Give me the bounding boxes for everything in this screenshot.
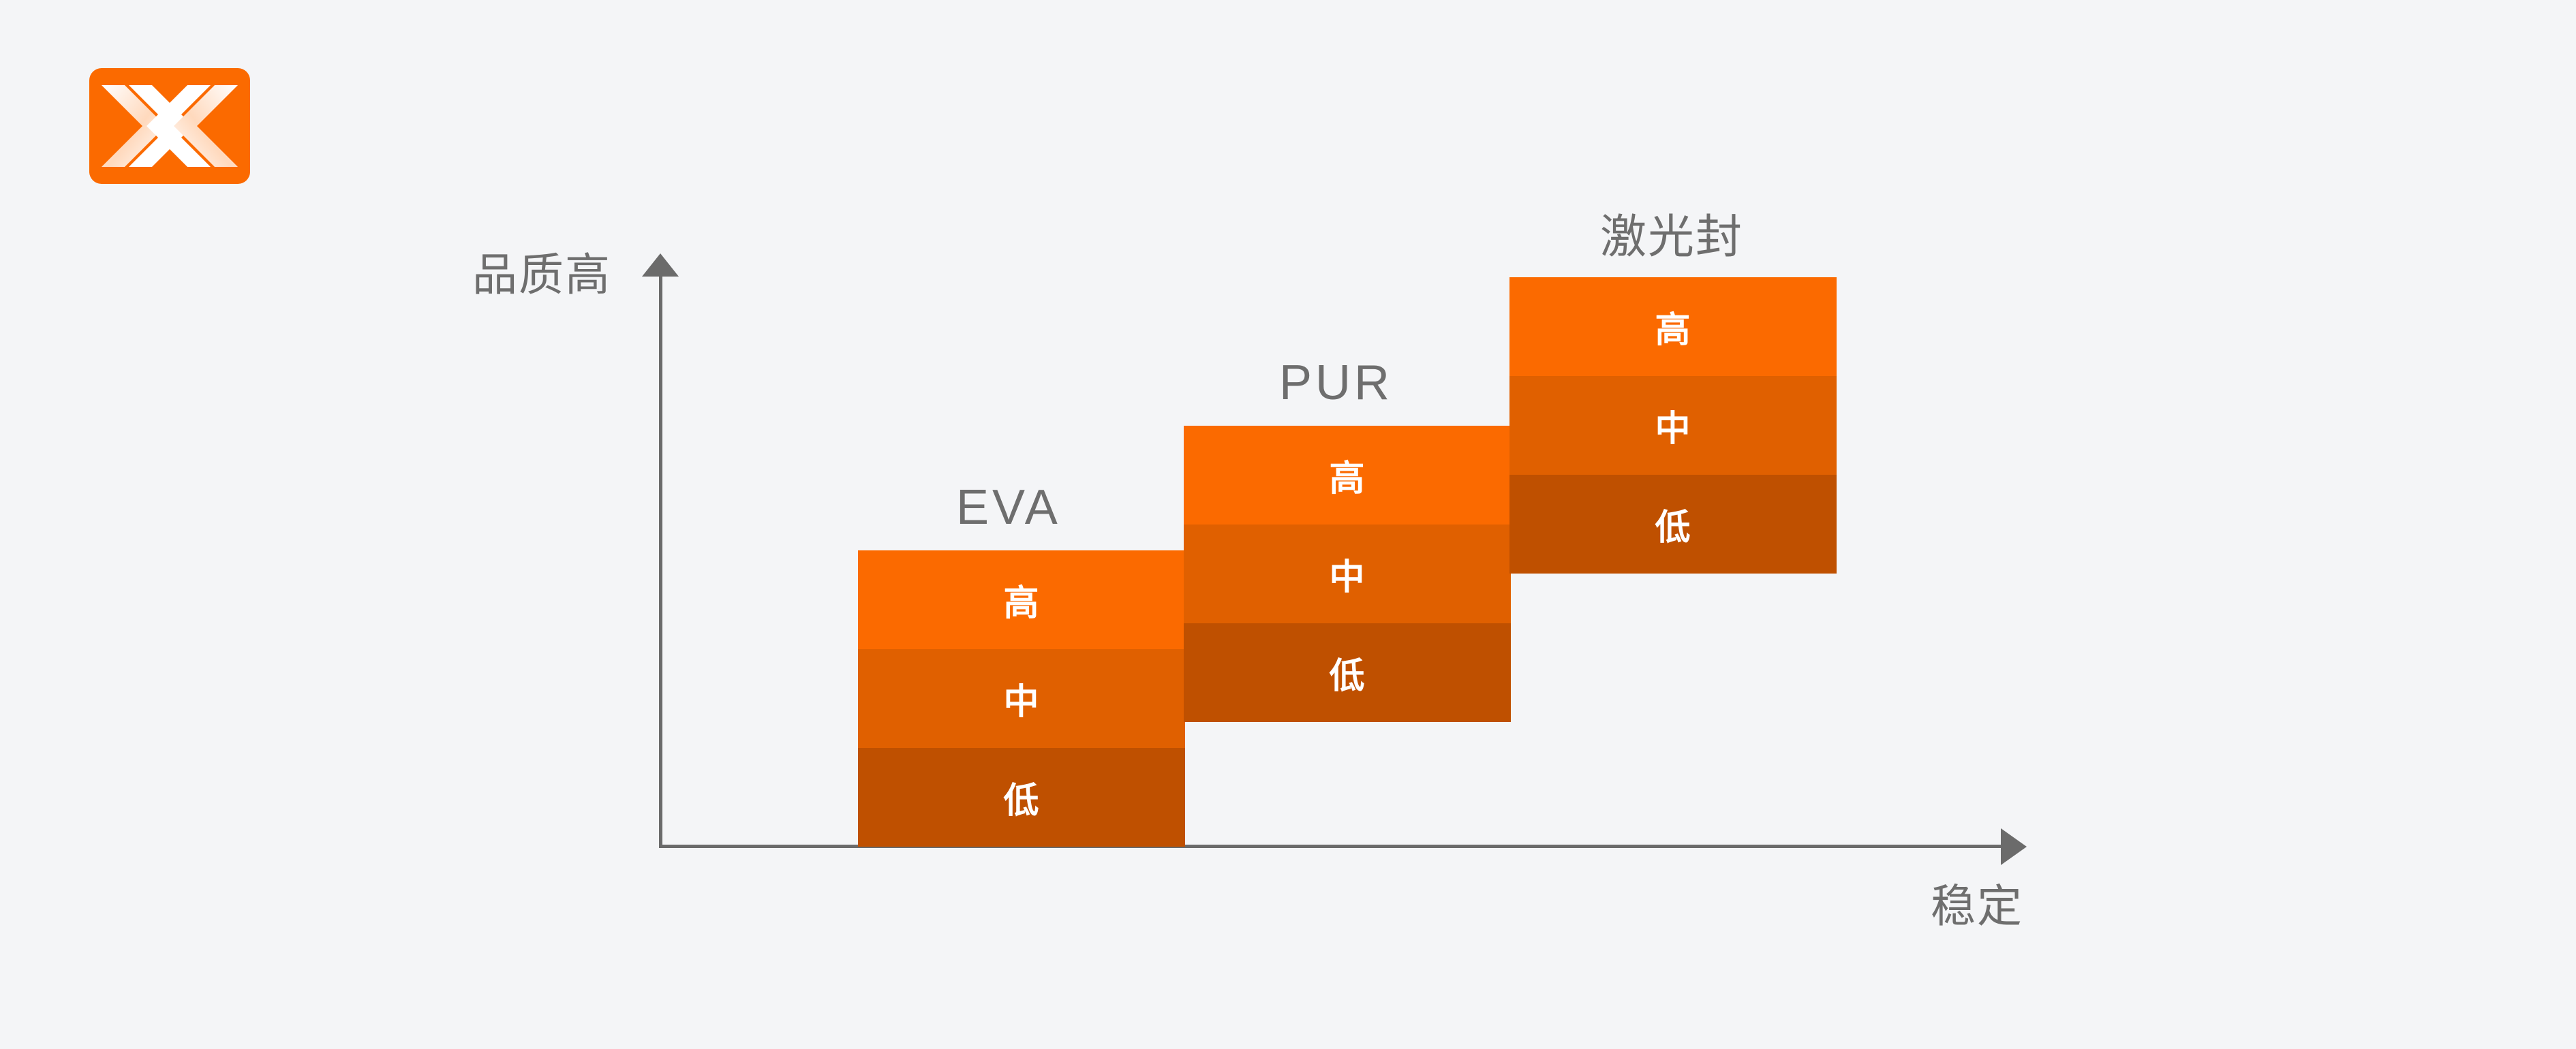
bar-segment-laser-low[interactable]: 低	[1509, 475, 1837, 574]
bar-segment-laser-mid[interactable]: 中	[1509, 376, 1837, 475]
bar-segment-pur-low[interactable]: 低	[1184, 623, 1511, 722]
stack-label-laser: 激光封	[1600, 214, 1743, 260]
bar-segment-eva-low[interactable]: 低	[858, 748, 1185, 847]
bar-segment-pur-high[interactable]: 高	[1184, 426, 1511, 524]
stack-label-eva: EVA	[956, 483, 1061, 532]
bar-stack-laser[interactable]: 高 中 低	[1509, 277, 1837, 574]
bar-stack-eva[interactable]: 高 中 低	[858, 550, 1185, 847]
x-axis-arrowhead-icon	[2001, 828, 2027, 865]
y-axis-label: 品质高	[472, 252, 611, 297]
chart-canvas: 品质高 稳定 EVA 高 中 低 PUR 高 中 低 激光封 高 中 低	[0, 0, 2576, 1049]
bar-segment-eva-mid[interactable]: 中	[858, 649, 1185, 748]
brand-logo	[89, 68, 250, 184]
x-axis-label: 稳定	[1931, 883, 2023, 928]
bar-segment-pur-mid[interactable]: 中	[1184, 524, 1511, 623]
bar-segment-laser-high[interactable]: 高	[1509, 277, 1837, 376]
stack-label-pur: PUR	[1279, 358, 1393, 407]
bar-stack-pur[interactable]: 高 中 低	[1184, 426, 1511, 722]
y-axis-line	[659, 272, 662, 848]
chevron-x-icon	[89, 68, 250, 184]
bar-segment-eva-high[interactable]: 高	[858, 550, 1185, 649]
